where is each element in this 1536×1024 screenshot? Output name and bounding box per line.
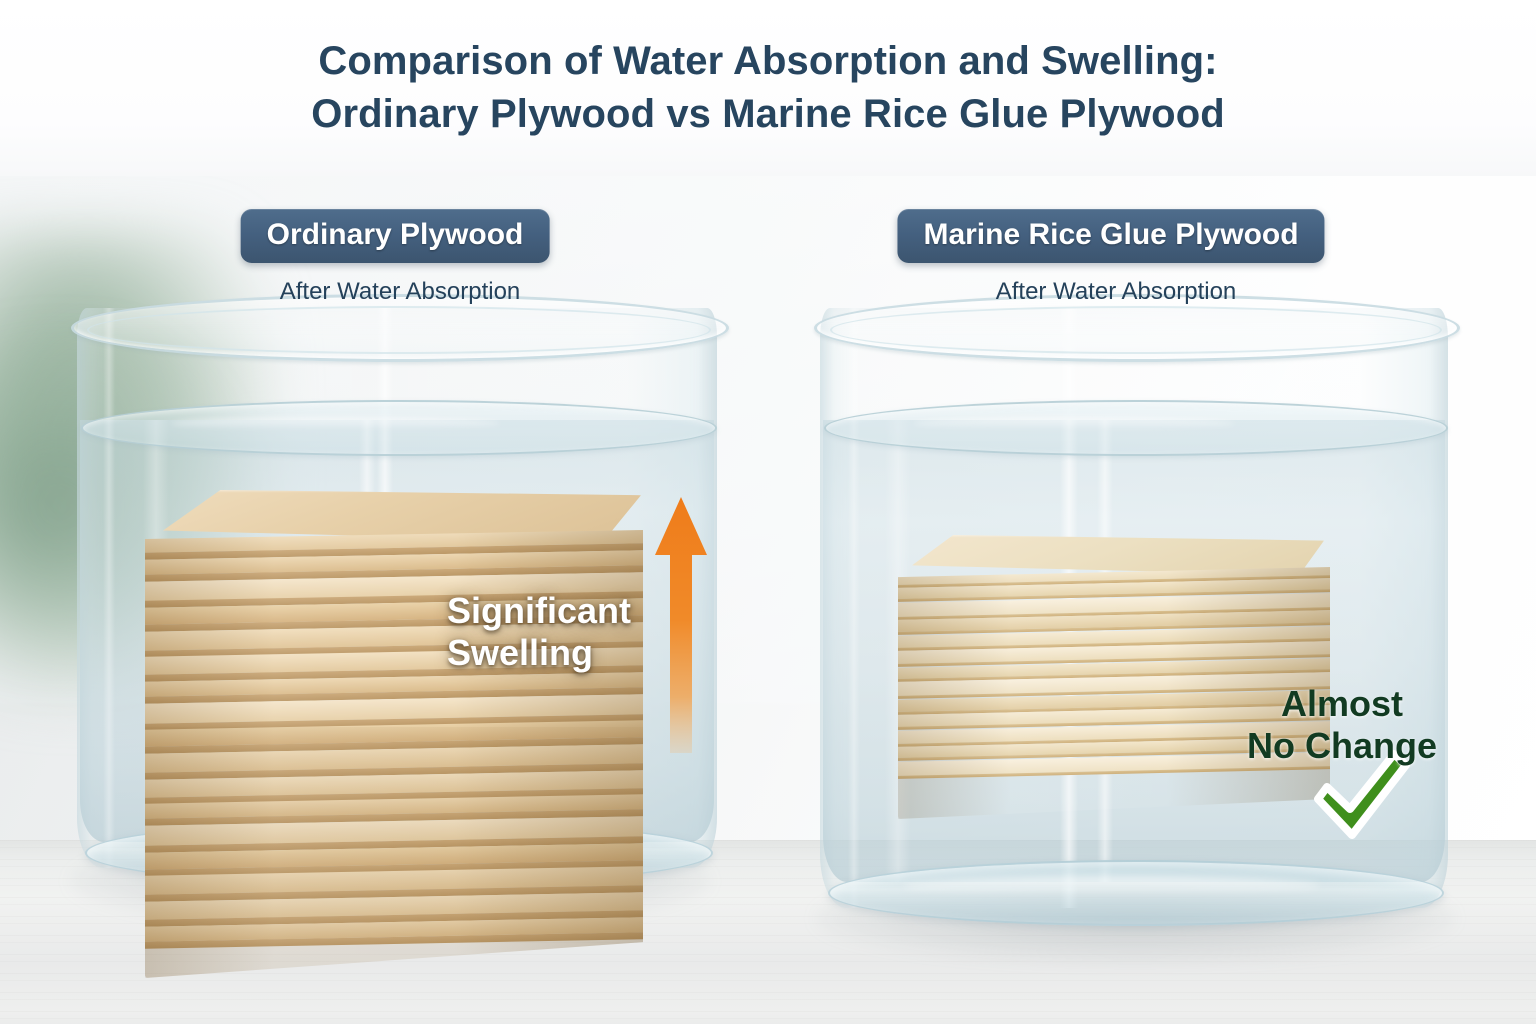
annotation-almost-no-change: Almost No Change [1247, 683, 1437, 767]
up-arrow-icon [652, 495, 710, 755]
badge-marine-rice-glue-plywood[interactable]: Marine Rice Glue Plywood [897, 209, 1324, 263]
title-bar: Comparison of Water Absorption and Swell… [0, 0, 1536, 176]
page-title-line-2: Ordinary Plywood vs Marine Rice Glue Ply… [311, 88, 1225, 141]
sublabel-ordinary: After Water Absorption [280, 278, 521, 306]
badge-ordinary-plywood[interactable]: Ordinary Plywood [241, 209, 550, 263]
plywood-block-marine [898, 535, 1338, 825]
page-title-line-1: Comparison of Water Absorption and Swell… [318, 35, 1217, 88]
plywood-wet-zone-ordinary [145, 727, 643, 978]
sublabel-marine: After Water Absorption [996, 278, 1237, 306]
infographic-root: Significant Swelling [0, 0, 1536, 1024]
plywood-block-ordinary [145, 490, 655, 990]
annotation-significant-swelling: Significant Swelling [447, 590, 631, 674]
